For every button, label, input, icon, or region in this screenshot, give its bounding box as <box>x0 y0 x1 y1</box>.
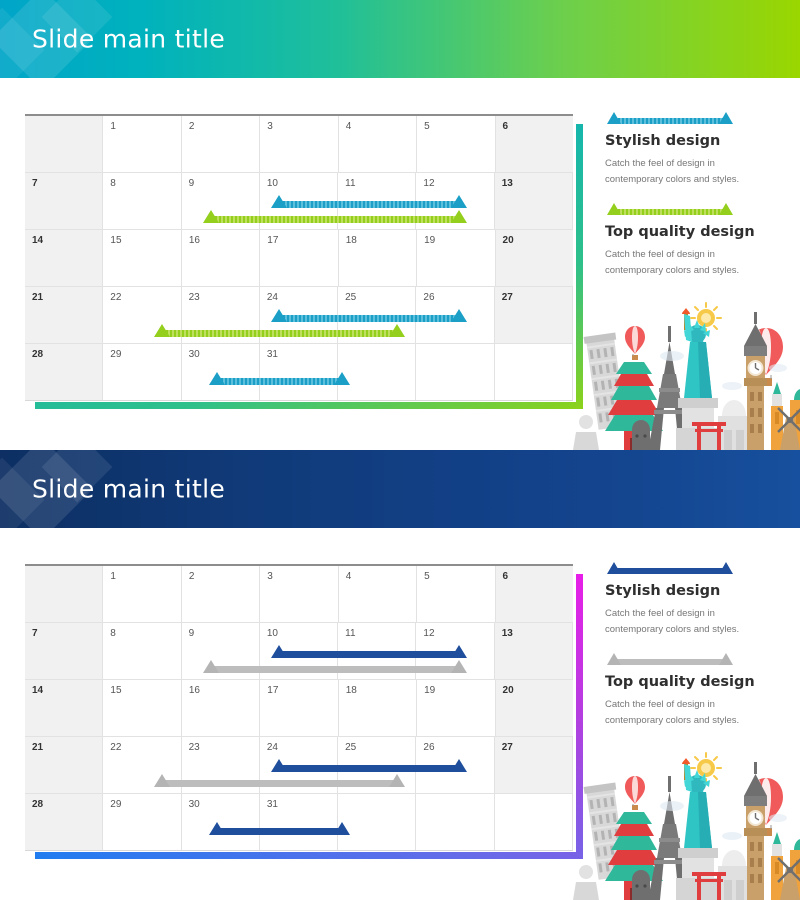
calendar-day-number: 12 <box>423 178 434 189</box>
calendar-day-16[interactable]: 16 <box>182 230 260 286</box>
calendar-day-number: 1 <box>110 571 116 582</box>
calendar-day-number: 28 <box>32 799 43 810</box>
world-landmarks-illustration <box>572 290 800 450</box>
calendar-day-number: 25 <box>345 292 356 303</box>
calendar-day-empty[interactable] <box>416 794 494 850</box>
calendar-day-number: 11 <box>345 628 355 639</box>
calendar-task-bar-task-10-to-12[interactable] <box>279 201 459 208</box>
calendar-day-7[interactable]: 7 <box>25 623 103 679</box>
calendar-week-row: 123456 <box>25 566 573 623</box>
calendar-day-number: 19 <box>424 235 435 246</box>
calendar-day-number: 20 <box>503 685 514 696</box>
calendar-day-number: 24 <box>267 742 278 753</box>
calendar-task-bar-task-22-to-25[interactable] <box>162 330 397 337</box>
calendar-day-18[interactable]: 18 <box>339 230 417 286</box>
calendar-day-15[interactable]: 15 <box>103 680 181 736</box>
calendar-day-empty[interactable] <box>25 566 103 622</box>
calendar-day-1[interactable]: 1 <box>103 116 181 172</box>
calendar-grid[interactable]: 1234567891011121314151617181920212223242… <box>25 114 573 399</box>
calendar-day-number: 12 <box>423 628 434 639</box>
calendar-week-row: 14151617181920 <box>25 230 573 287</box>
legend-color-bar <box>614 568 726 574</box>
calendar-day-number: 14 <box>32 685 43 696</box>
legend-description: Catch the feel of design in contemporary… <box>605 697 765 728</box>
calendar-day-number: 28 <box>32 349 43 360</box>
calendar-day-number: 11 <box>345 178 355 189</box>
calendar-day-29[interactable]: 29 <box>103 344 181 400</box>
calendar-day-number: 8 <box>110 178 116 189</box>
calendar-day-number: 6 <box>503 121 509 132</box>
legend-list: Stylish designCatch the feel of design i… <box>605 562 780 751</box>
calendar-day-number: 13 <box>502 178 513 189</box>
legend-description: Catch the feel of design in contemporary… <box>605 247 765 278</box>
calendar-day-3[interactable]: 3 <box>260 566 338 622</box>
calendar-day-4[interactable]: 4 <box>339 116 417 172</box>
calendar-day-number: 15 <box>110 685 121 696</box>
calendar-day-empty[interactable] <box>416 344 494 400</box>
calendar-day-number: 29 <box>110 349 121 360</box>
calendar-day-number: 2 <box>189 571 195 582</box>
calendar-week-row: 78910111213 <box>25 173 573 230</box>
calendar-day-number: 13 <box>502 628 513 639</box>
calendar-day-number: 31 <box>267 799 278 810</box>
calendar-task-bar-task-9-to-12[interactable] <box>211 216 459 223</box>
calendar-day-number: 30 <box>189 349 200 360</box>
slide-1: Slide main title 12345678910111213141516… <box>0 0 800 450</box>
calendar-task-bar-task-24-to-26[interactable] <box>279 765 459 772</box>
calendar-day-20[interactable]: 20 <box>496 230 573 286</box>
calendar-day-19[interactable]: 19 <box>417 680 495 736</box>
calendar-task-bar-task-9-to-12[interactable] <box>211 666 459 673</box>
legend-item-2: Top quality designCatch the feel of desi… <box>605 659 780 728</box>
calendar-day-number: 30 <box>189 799 200 810</box>
calendar-day-number: 4 <box>346 571 352 582</box>
calendar-day-5[interactable]: 5 <box>417 566 495 622</box>
calendar-container: 1234567891011121314151617181920212223242… <box>25 114 573 399</box>
calendar-day-4[interactable]: 4 <box>339 566 417 622</box>
calendar-day-27[interactable]: 27 <box>495 287 573 343</box>
calendar-day-number: 10 <box>267 178 278 189</box>
calendar-day-number: 5 <box>424 121 430 132</box>
calendar-day-6[interactable]: 6 <box>496 566 573 622</box>
legend-color-bar <box>614 118 726 124</box>
calendar-day-21[interactable]: 21 <box>25 737 103 793</box>
calendar-day-number: 5 <box>424 571 430 582</box>
calendar-task-bar-task-30-to-31[interactable] <box>217 828 342 835</box>
legend-title: Stylish design <box>605 133 780 149</box>
calendar-day-empty[interactable] <box>25 116 103 172</box>
calendar-week-row: 78910111213 <box>25 623 573 680</box>
calendar-week-row: 14151617181920 <box>25 680 573 737</box>
slide-header: Slide main title <box>0 450 800 528</box>
calendar-day-14[interactable]: 14 <box>25 680 103 736</box>
calendar-day-27[interactable]: 27 <box>495 737 573 793</box>
calendar-container: 1234567891011121314151617181920212223242… <box>25 564 573 849</box>
calendar-day-20[interactable]: 20 <box>496 680 573 736</box>
legend-list: Stylish designCatch the feel of design i… <box>605 112 780 301</box>
calendar-day-number: 26 <box>423 292 434 303</box>
calendar-day-14[interactable]: 14 <box>25 230 103 286</box>
legend-description: Catch the feel of design in contemporary… <box>605 156 765 187</box>
calendar-day-number: 8 <box>110 628 116 639</box>
calendar-day-17[interactable]: 17 <box>260 230 338 286</box>
calendar-task-bar-task-24-to-26[interactable] <box>279 315 459 322</box>
calendar-day-number: 1 <box>110 121 116 132</box>
legend-item-1: Stylish designCatch the feel of design i… <box>605 118 780 187</box>
legend-item-2: Top quality designCatch the feel of desi… <box>605 209 780 278</box>
calendar-day-18[interactable]: 18 <box>339 680 417 736</box>
calendar-day-number: 7 <box>32 628 38 639</box>
legend-item-1: Stylish designCatch the feel of design i… <box>605 568 780 637</box>
calendar-day-number: 15 <box>110 235 121 246</box>
calendar-day-number: 18 <box>346 685 357 696</box>
calendar-day-number: 14 <box>32 235 43 246</box>
calendar-day-number: 16 <box>189 235 200 246</box>
calendar-day-2[interactable]: 2 <box>182 566 260 622</box>
calendar-day-number: 2 <box>189 121 195 132</box>
calendar-day-number: 9 <box>189 628 195 639</box>
calendar-day-number: 29 <box>110 799 121 810</box>
calendar-day-15[interactable]: 15 <box>103 230 181 286</box>
calendar-week-row: 21222324252627 <box>25 287 573 344</box>
calendar-day-5[interactable]: 5 <box>417 116 495 172</box>
legend-title: Top quality design <box>605 224 780 240</box>
slide-header: Slide main title <box>0 0 800 78</box>
calendar-day-empty[interactable] <box>495 794 573 850</box>
slide-2: Slide main title 12345678910111213141516… <box>0 450 800 900</box>
page-title: Slide main title <box>32 475 225 504</box>
calendar-day-empty[interactable] <box>495 344 573 400</box>
calendar-task-bar-task-30-to-31[interactable] <box>217 378 342 385</box>
calendar-day-number: 23 <box>189 742 200 753</box>
calendar-day-29[interactable]: 29 <box>103 794 181 850</box>
legend-description: Catch the feel of design in contemporary… <box>605 606 765 637</box>
calendar-week-row: 123456 <box>25 116 573 173</box>
calendar-day-number: 16 <box>189 685 200 696</box>
calendar-day-number: 21 <box>32 292 43 303</box>
calendar-day-number: 25 <box>345 742 356 753</box>
calendar-day-number: 24 <box>267 292 278 303</box>
calendar-day-28[interactable]: 28 <box>25 344 103 400</box>
calendar-week-row: 28293031 <box>25 794 573 851</box>
calendar-day-13[interactable]: 13 <box>495 623 573 679</box>
calendar-day-number: 7 <box>32 178 38 189</box>
calendar-day-19[interactable]: 19 <box>417 230 495 286</box>
calendar-week-row: 28293031 <box>25 344 573 401</box>
calendar-day-number: 10 <box>267 628 278 639</box>
calendar-day-number: 20 <box>503 235 514 246</box>
calendar-day-number: 17 <box>267 235 278 246</box>
calendar-day-number: 22 <box>110 742 121 753</box>
calendar-day-8[interactable]: 8 <box>103 173 181 229</box>
calendar-day-number: 6 <box>503 571 509 582</box>
calendar-day-number: 21 <box>32 742 43 753</box>
calendar-day-number: 27 <box>502 292 513 303</box>
calendar-day-2[interactable]: 2 <box>182 116 260 172</box>
calendar-day-number: 19 <box>424 685 435 696</box>
calendar-day-17[interactable]: 17 <box>260 680 338 736</box>
calendar-day-13[interactable]: 13 <box>495 173 573 229</box>
calendar-grid[interactable]: 1234567891011121314151617181920212223242… <box>25 564 573 849</box>
calendar-day-number: 22 <box>110 292 121 303</box>
calendar-task-bar-task-22-to-25[interactable] <box>162 780 397 787</box>
page-title: Slide main title <box>32 25 225 54</box>
calendar-day-number: 23 <box>189 292 200 303</box>
calendar-day-16[interactable]: 16 <box>182 680 260 736</box>
calendar-day-number: 26 <box>423 742 434 753</box>
calendar-week-row: 21222324252627 <box>25 737 573 794</box>
calendar-day-31[interactable]: 31 <box>260 344 338 400</box>
legend-color-bar <box>614 659 726 665</box>
calendar-day-7[interactable]: 7 <box>25 173 103 229</box>
calendar-day-21[interactable]: 21 <box>25 287 103 343</box>
calendar-task-bar-task-10-to-12[interactable] <box>279 651 459 658</box>
calendar-day-number: 17 <box>267 685 278 696</box>
calendar-day-3[interactable]: 3 <box>260 116 338 172</box>
calendar-day-number: 4 <box>346 121 352 132</box>
calendar-day-number: 3 <box>267 121 273 132</box>
calendar-day-number: 18 <box>346 235 357 246</box>
calendar-day-1[interactable]: 1 <box>103 566 181 622</box>
legend-title: Stylish design <box>605 583 780 599</box>
calendar-day-number: 27 <box>502 742 513 753</box>
calendar-day-8[interactable]: 8 <box>103 623 181 679</box>
world-landmarks-illustration <box>572 740 800 900</box>
legend-color-bar <box>614 209 726 215</box>
calendar-day-number: 31 <box>267 349 278 360</box>
legend-title: Top quality design <box>605 674 780 690</box>
calendar-day-31[interactable]: 31 <box>260 794 338 850</box>
calendar-day-28[interactable]: 28 <box>25 794 103 850</box>
calendar-day-6[interactable]: 6 <box>496 116 573 172</box>
calendar-day-number: 9 <box>189 178 195 189</box>
calendar-day-number: 3 <box>267 571 273 582</box>
